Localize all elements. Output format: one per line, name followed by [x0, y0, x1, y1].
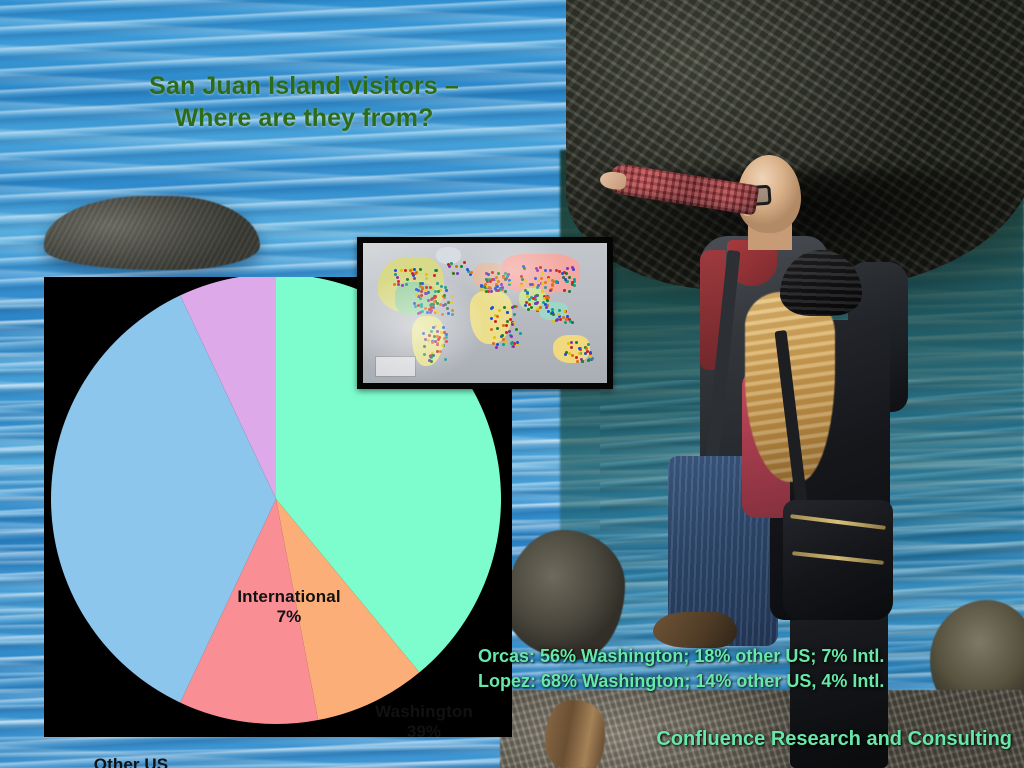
slice-label-washington: Washington 39% [354, 702, 494, 742]
slide-canvas: San Juan Island visitors – Where are the… [0, 0, 1024, 768]
slice-value-international: 7% [199, 607, 379, 627]
slice-name-international: International [237, 587, 340, 606]
credit-line: Confluence Research and Consulting [500, 728, 1012, 751]
stat-line-lopez: Lopez: 68% Washington; 14% other US, 4% … [478, 669, 1018, 694]
title-line-1: San Juan Island visitors – [84, 70, 524, 102]
slice-value-washington: 39% [354, 722, 494, 742]
slice-label-international: International 7% [199, 587, 379, 627]
man-boot [653, 612, 737, 648]
world-map-inset [357, 237, 613, 389]
shore-rock-left [505, 530, 625, 660]
slice-label-other-us: Other US 36% [66, 755, 196, 768]
slice-name-washington: Washington [375, 702, 473, 721]
slice-name-other-us: Other US [94, 755, 168, 768]
island-stats: Orcas: 56% Washington; 18% other US; 7% … [478, 644, 1018, 694]
title-line-2: Where are they from? [84, 102, 524, 134]
map-legend-box [375, 356, 416, 378]
slide-title: San Juan Island visitors – Where are the… [84, 70, 524, 134]
stat-line-orcas: Orcas: 56% Washington; 18% other US; 7% … [478, 644, 1018, 669]
world-map-image [363, 243, 607, 383]
